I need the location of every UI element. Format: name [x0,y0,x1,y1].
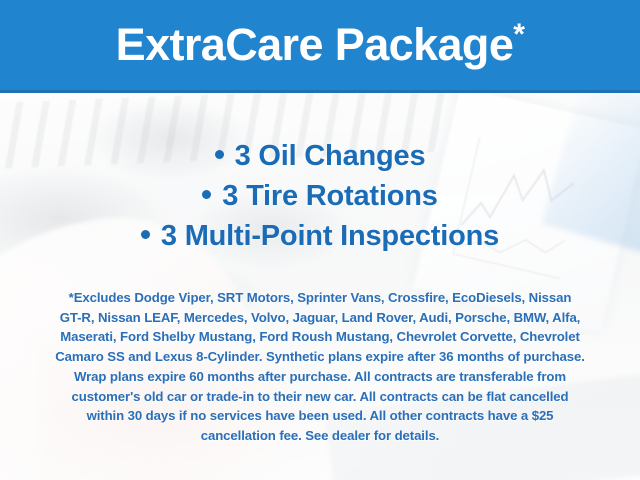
disclaimer-line: Camaro SS and Lexus 8-Cylinder. Syntheti… [28,347,612,367]
disclaimer-line: cancellation fee. See dealer for details… [28,426,612,446]
bullet-dot-icon [202,190,211,199]
bullet-dot-icon [215,150,224,159]
benefit-item-tire-rotations: 3 Tire Rotations [0,176,640,216]
benefit-label: 3 Multi-Point Inspections [161,220,499,252]
benefit-label: 3 Tire Rotations [222,180,437,212]
disclaimer-line: within 30 days if no services have been … [28,406,612,426]
benefit-item-oil-changes: 3 Oil Changes [0,136,640,176]
disclaimer-line: GT-R, Nissan LEAF, Mercedes, Volvo, Jagu… [28,308,612,328]
disclaimer-line: Wrap plans expire 60 months after purcha… [28,367,612,387]
page-title: ExtraCare Package* [116,22,525,69]
bullet-dot-icon [141,230,150,239]
benefit-label: 3 Oil Changes [235,140,426,172]
page-title-text: ExtraCare Package [116,19,514,70]
disclaimer-line: *Excludes Dodge Viper, SRT Motors, Sprin… [28,288,612,308]
extracare-package-ad: ExtraCare Package* 3 Oil Changes 3 Tire … [0,0,640,480]
disclaimer-line: Maserati, Ford Shelby Mustang, Ford Rous… [28,327,612,347]
benefits-list: 3 Oil Changes 3 Tire Rotations 3 Multi-P… [0,136,640,256]
page-title-asterisk: * [513,18,524,51]
disclaimer-block: *Excludes Dodge Viper, SRT Motors, Sprin… [28,288,612,446]
header-banner: ExtraCare Package* [0,0,640,93]
disclaimer-line: customer's old car or trade-in to their … [28,387,612,407]
benefit-item-multi-point-inspections: 3 Multi-Point Inspections [0,216,640,256]
